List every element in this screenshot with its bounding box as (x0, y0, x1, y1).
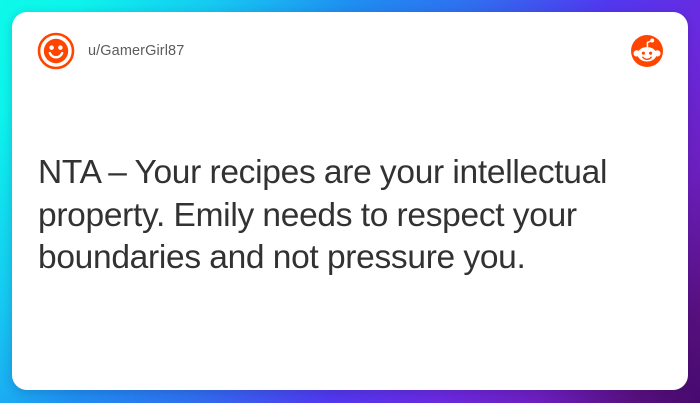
card-header: u/GamerGirl87 (12, 12, 688, 90)
card-body: NTA – Your recipes are your intellectual… (38, 152, 662, 280)
comment-text: NTA – Your recipes are your intellectual… (38, 152, 662, 280)
reddit-snoo-logo-icon[interactable] (630, 34, 664, 68)
smiley-face-avatar-icon (37, 32, 75, 70)
reddit-comment-card: u/GamerGirl87 (12, 12, 688, 390)
author-username: u/GamerGirl87 (88, 44, 184, 59)
gradient-backdrop: u/GamerGirl87 (0, 0, 700, 403)
author-block[interactable]: u/GamerGirl87 (37, 32, 630, 70)
